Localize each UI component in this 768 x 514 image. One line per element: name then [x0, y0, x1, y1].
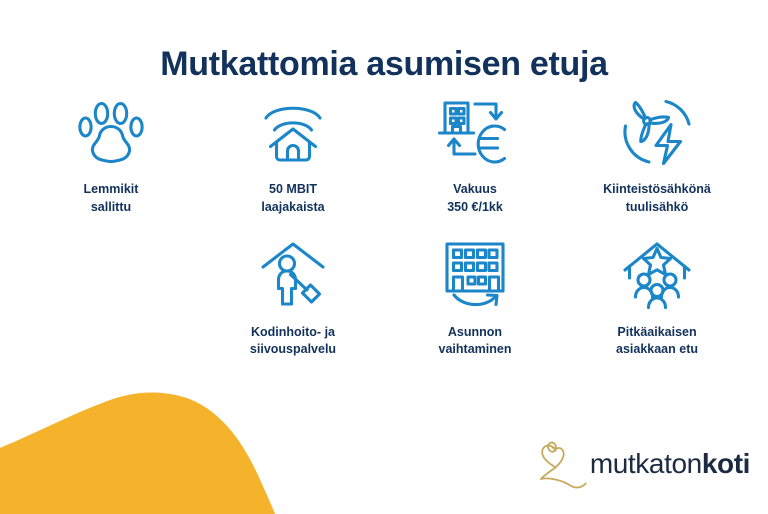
benefit-item-wind-power: Kiinteistösähkönä tuulisähkö	[566, 92, 748, 217]
benefits-row-1: Lemmikit sallittu 50 MBIT laajakaista	[20, 92, 748, 217]
benefit-item-cleaning: Kodinhoito- ja siivouspalvelu	[202, 235, 384, 360]
benefit-item-apartment-swap: Asunnon vaihtaminen	[384, 235, 566, 360]
benefit-label: 50 MBIT laajakaista	[261, 181, 324, 217]
benefit-label: Lemmikit sallittu	[84, 181, 139, 217]
benefit-item-loyalty: Pitkäaikaisen asiakkaan etu	[566, 235, 748, 360]
house-star-family-icon	[609, 235, 705, 315]
infographic-slide: Mutkattomia asumisen etuja Lemmikit sall…	[0, 0, 768, 514]
cleaning-person-roof-icon	[245, 235, 341, 315]
benefit-label: Vakuus 350 €/1kk	[447, 181, 503, 217]
benefits-grid: Lemmikit sallittu 50 MBIT laajakaista	[20, 92, 748, 359]
brand-wordmark: mutkatonkoti	[590, 450, 750, 478]
paw-print-icon	[63, 92, 159, 172]
apartment-swap-arrow-icon	[427, 235, 523, 315]
benefit-label: Pitkäaikaisen asiakkaan etu	[616, 324, 698, 360]
brand-name-bold: koti	[702, 448, 750, 479]
page-title: Mutkattomia asumisen etuja	[0, 45, 768, 84]
benefit-item-pets: Lemmikit sallittu	[20, 92, 202, 217]
benefit-label: Kiinteistösähkönä tuulisähkö	[603, 181, 711, 217]
brand-logo: mutkatonkoti	[530, 436, 750, 492]
benefit-label: Kodinhoito- ja siivouspalvelu	[250, 324, 336, 360]
benefit-label: Asunnon vaihtaminen	[439, 324, 512, 360]
heart-swirl-icon	[530, 436, 588, 492]
benefits-row-2: Kodinhoito- ja siivouspalvelu	[20, 235, 748, 360]
benefit-item-deposit: Vakuus 350 €/1kk	[384, 92, 566, 217]
wind-turbine-lightning-icon	[609, 92, 705, 172]
building-euro-exchange-icon	[427, 92, 523, 172]
benefit-item-broadband: 50 MBIT laajakaista	[202, 92, 384, 217]
wifi-house-icon	[245, 92, 341, 172]
brand-name-light: mutkaton	[590, 448, 702, 479]
